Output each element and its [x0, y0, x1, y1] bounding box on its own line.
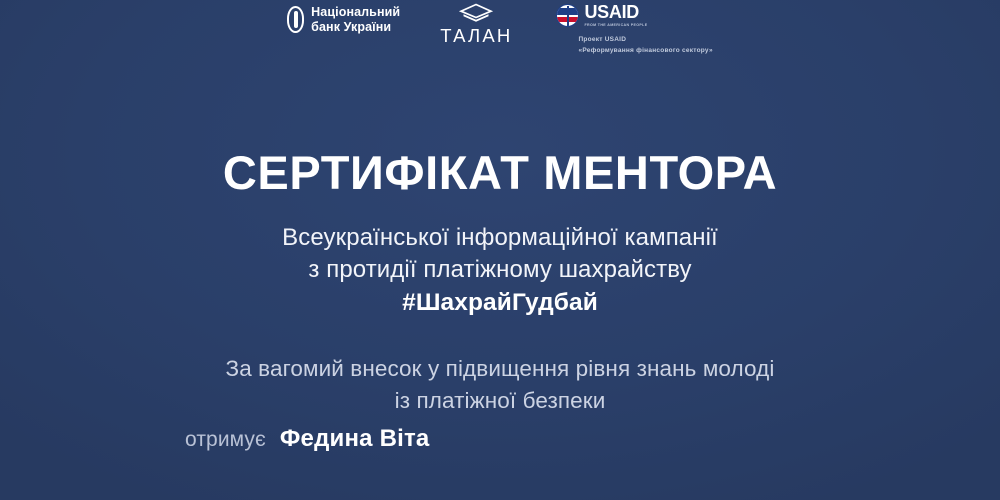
certificate-canvas: Національний банк України ТАЛАН	[0, 0, 1000, 500]
merit-statement-block: За вагомий внесок у підвищення рівня зна…	[0, 353, 1000, 417]
recipient-name: Федина Віта	[280, 425, 430, 453]
merit-statement-line-1: За вагомий внесок у підвищення рівня зна…	[0, 353, 1000, 385]
recipient-label: отримує	[185, 428, 266, 452]
merit-statement-line-2: із платіжної безпеки	[0, 385, 1000, 417]
certificate-title: СЕРТИФІКАТ МЕНТОРА	[0, 149, 1000, 196]
campaign-hashtag: #ШахрайГудбай	[0, 287, 1000, 320]
campaign-subtitle-line-2: з протидії платіжному шахрайству	[0, 254, 1000, 286]
campaign-subtitle-block: Всеукраїнської інформаційної кампанії з …	[0, 222, 1000, 320]
recipient-row: отримує Федина Віта	[185, 425, 429, 453]
certificate-body: СЕРТИФІКАТ МЕНТОРА Всеукраїнської інформ…	[0, 0, 1000, 500]
campaign-subtitle-line-1: Всеукраїнської інформаційної кампанії	[0, 222, 1000, 254]
